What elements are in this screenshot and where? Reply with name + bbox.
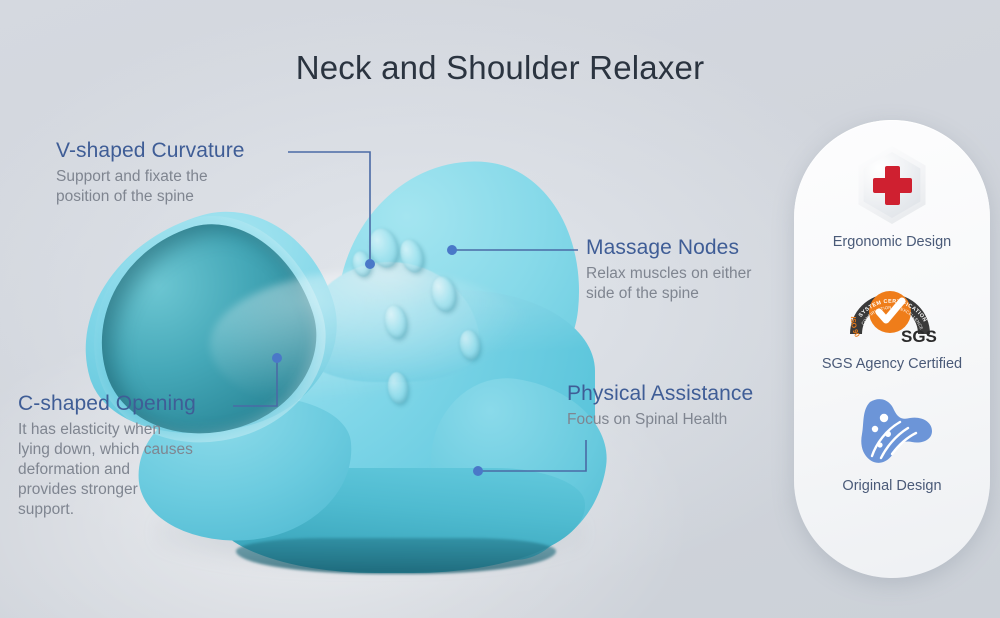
callout-physical-assistance: Physical Assistance Focus on Spinal Heal…: [567, 382, 753, 430]
callout-body-line: Focus on Spinal Health: [567, 410, 753, 430]
callout-body: Support and fixate the position of the s…: [56, 167, 245, 207]
callout-body-line: It has elasticity when: [18, 420, 196, 440]
callout-body-line: provides stronger: [18, 480, 196, 500]
callout-dot-physical-assistance: [473, 466, 483, 476]
connector-v-shaped-curvature: [288, 152, 370, 262]
certification-item-ergonomic-design: Ergonomic Design: [794, 146, 990, 250]
connector-c-shaped-opening: [233, 360, 277, 406]
callout-dot-v-shaped-curvature: [365, 259, 375, 269]
certification-label: Original Design: [842, 478, 941, 494]
connector-physical-assistance: [478, 440, 586, 471]
certification-panel: Ergonomic Design: [794, 120, 990, 578]
callout-dot-massage-nodes: [447, 245, 457, 255]
product-silhouette-icon: [840, 394, 944, 468]
callout-body: It has elasticity when lying down, which…: [18, 420, 196, 520]
callout-v-shaped-curvature: V-shaped Curvature Support and fixate th…: [56, 139, 245, 207]
certification-label: SGS Agency Certified: [822, 356, 962, 372]
callout-dot-c-shaped-opening: [272, 353, 282, 363]
medical-cross-hexagon-icon: [853, 146, 931, 224]
callout-body-line: Relax muscles on either: [586, 264, 751, 284]
callout-body-line: side of the spine: [586, 284, 751, 304]
callout-body-line: deformation and: [18, 460, 196, 480]
product-infographic: Neck and Shoulder Relaxer V-: [0, 0, 1000, 618]
callout-body: Relax muscles on either side of the spin…: [586, 264, 751, 304]
callout-heading: Physical Assistance: [567, 382, 753, 406]
certification-item-sgs-agency-certified: SYSTEM CERTIFICATION CONFIRMATION OF EXC…: [794, 272, 990, 372]
seal-wordmark: SGS: [901, 327, 937, 346]
callout-body: Focus on Spinal Health: [567, 410, 753, 430]
callout-heading: V-shaped Curvature: [56, 139, 245, 163]
seal-arc-left: ISO 9001:2000: [838, 272, 860, 339]
callout-body-line: support.: [18, 500, 196, 520]
svg-text:ISO 9001:2000: ISO 9001:2000: [838, 272, 860, 339]
callout-heading: C-shaped Opening: [18, 392, 196, 416]
callout-body-line: lying down, which causes: [18, 440, 196, 460]
callout-massage-nodes: Massage Nodes Relax muscles on either si…: [586, 236, 751, 304]
callout-c-shaped-opening: C-shaped Opening It has elasticity when …: [18, 392, 196, 520]
callout-body-line: position of the spine: [56, 187, 245, 207]
certification-item-original-design: Original Design: [794, 394, 990, 494]
certification-label: Ergonomic Design: [833, 234, 951, 250]
sgs-iso-seal-icon: SYSTEM CERTIFICATION CONFIRMATION OF EXC…: [838, 272, 946, 346]
callout-body-line: Support and fixate the: [56, 167, 245, 187]
callout-heading: Massage Nodes: [586, 236, 751, 260]
